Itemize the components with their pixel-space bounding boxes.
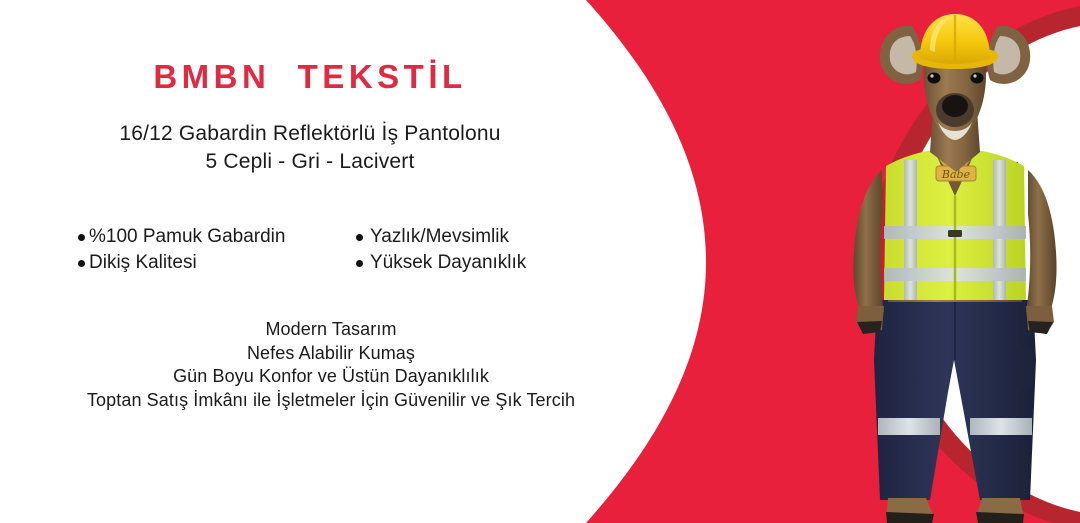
feature-label: Yüksek Dayanıklık bbox=[370, 250, 526, 276]
product-banner: BMBN TEKSTİL 16/12 Gabardin Reflektörlü … bbox=[0, 0, 1080, 523]
product-title-line-2: 5 Cepli - Gri - Lacivert bbox=[0, 148, 620, 176]
forehoof-right-tip bbox=[1028, 321, 1053, 334]
brand-title: BMBN TEKSTİL bbox=[0, 58, 620, 96]
feature-item: Dikiş Kalitesi bbox=[78, 250, 356, 276]
tagline-line-1: Modern Tasarım bbox=[0, 318, 662, 342]
feature-list: %100 Pamuk Gabardin Yazlık/Mevsimlik Dik… bbox=[78, 224, 618, 276]
reflective-band-right bbox=[970, 418, 1032, 435]
work-trousers bbox=[874, 300, 1036, 500]
hooves bbox=[886, 498, 1024, 523]
reflective-band-left bbox=[878, 418, 940, 435]
feature-label: Dikiş Kalitesi bbox=[89, 250, 197, 276]
tagline-block: Modern Tasarım Nefes Alabilir Kumaş Gün … bbox=[0, 318, 662, 412]
feature-item: Yüksek Dayanıklık bbox=[356, 250, 618, 276]
vest-tab bbox=[948, 230, 962, 237]
eye-left bbox=[928, 73, 941, 84]
feature-item: Yazlık/Mevsimlik bbox=[356, 224, 618, 250]
cargo-pocket bbox=[1016, 348, 1032, 388]
tagline-line-4: Toptan Satış İmkânı ile İşletmeler İçin … bbox=[0, 389, 662, 413]
tagline-line-2: Nefes Alabilir Kumaş bbox=[0, 342, 662, 366]
eye-right bbox=[971, 73, 984, 84]
eye-right-glint bbox=[973, 74, 976, 77]
product-title-line-1: 16/12 Gabardin Reflektörlü İş Pantolonu bbox=[0, 120, 620, 148]
bullet-icon bbox=[78, 234, 85, 241]
arm-left bbox=[853, 170, 884, 312]
feature-label: %100 Pamuk Gabardin bbox=[89, 224, 285, 250]
forehoof-left-tip bbox=[857, 321, 882, 334]
eye-left-glint bbox=[930, 74, 933, 77]
tagline-line-3: Gün Boyu Konfor ve Üstün Dayanıklılık bbox=[0, 365, 662, 389]
feature-label: Yazlık/Mevsimlik bbox=[370, 224, 509, 250]
arm-right bbox=[1026, 170, 1057, 312]
bullet-icon bbox=[78, 260, 85, 267]
yellow-hard-hat bbox=[912, 14, 998, 69]
text-column: BMBN TEKSTİL 16/12 Gabardin Reflektörlü … bbox=[0, 0, 620, 523]
bullet-icon bbox=[356, 260, 363, 267]
deer-nose bbox=[942, 95, 968, 117]
bullet-icon bbox=[356, 234, 363, 241]
mascot-deer-worker: Babe bbox=[830, 0, 1080, 523]
product-title-block: 16/12 Gabardin Reflektörlü İş Pantolonu … bbox=[0, 120, 620, 176]
feature-item: %100 Pamuk Gabardin bbox=[78, 224, 356, 250]
